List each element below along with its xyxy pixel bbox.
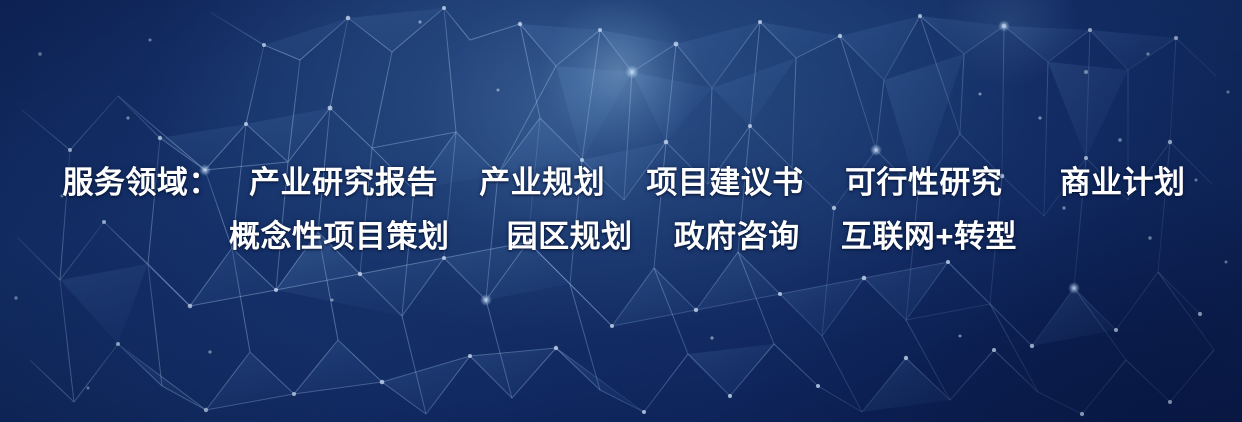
service-banner: 服务领域： 产业研究报告 产业规划 项目建议书 可行性研究 商业计划 概念性项目… xyxy=(0,0,1242,422)
service-scope-text-block: 服务领域： 产业研究报告 产业规划 项目建议书 可行性研究 商业计划 概念性项目… xyxy=(0,156,1242,264)
service-item-government-consulting[interactable]: 政府咨询 xyxy=(674,219,800,254)
service-line-2: 概念性项目策划 园区规划 政府咨询 互联网+转型 xyxy=(0,210,1242,264)
service-item-internet-plus-transformation[interactable]: 互联网+转型 xyxy=(841,219,1017,254)
service-item-industry-research-report[interactable]: 产业研究报告 xyxy=(249,165,438,200)
service-scope-label: 服务领域： xyxy=(62,165,220,200)
service-item-feasibility-study[interactable]: 可行性研究 xyxy=(845,165,1003,200)
service-item-project-proposal[interactable]: 项目建议书 xyxy=(646,165,804,200)
service-line-1: 服务领域： 产业研究报告 产业规划 项目建议书 可行性研究 商业计划 xyxy=(0,156,1242,210)
service-item-park-planning[interactable]: 园区规划 xyxy=(507,219,633,254)
service-item-conceptual-project-planning[interactable]: 概念性项目策划 xyxy=(229,219,450,254)
service-item-business-plan[interactable]: 商业计划 xyxy=(1060,165,1186,200)
service-item-industry-planning[interactable]: 产业规划 xyxy=(479,165,605,200)
